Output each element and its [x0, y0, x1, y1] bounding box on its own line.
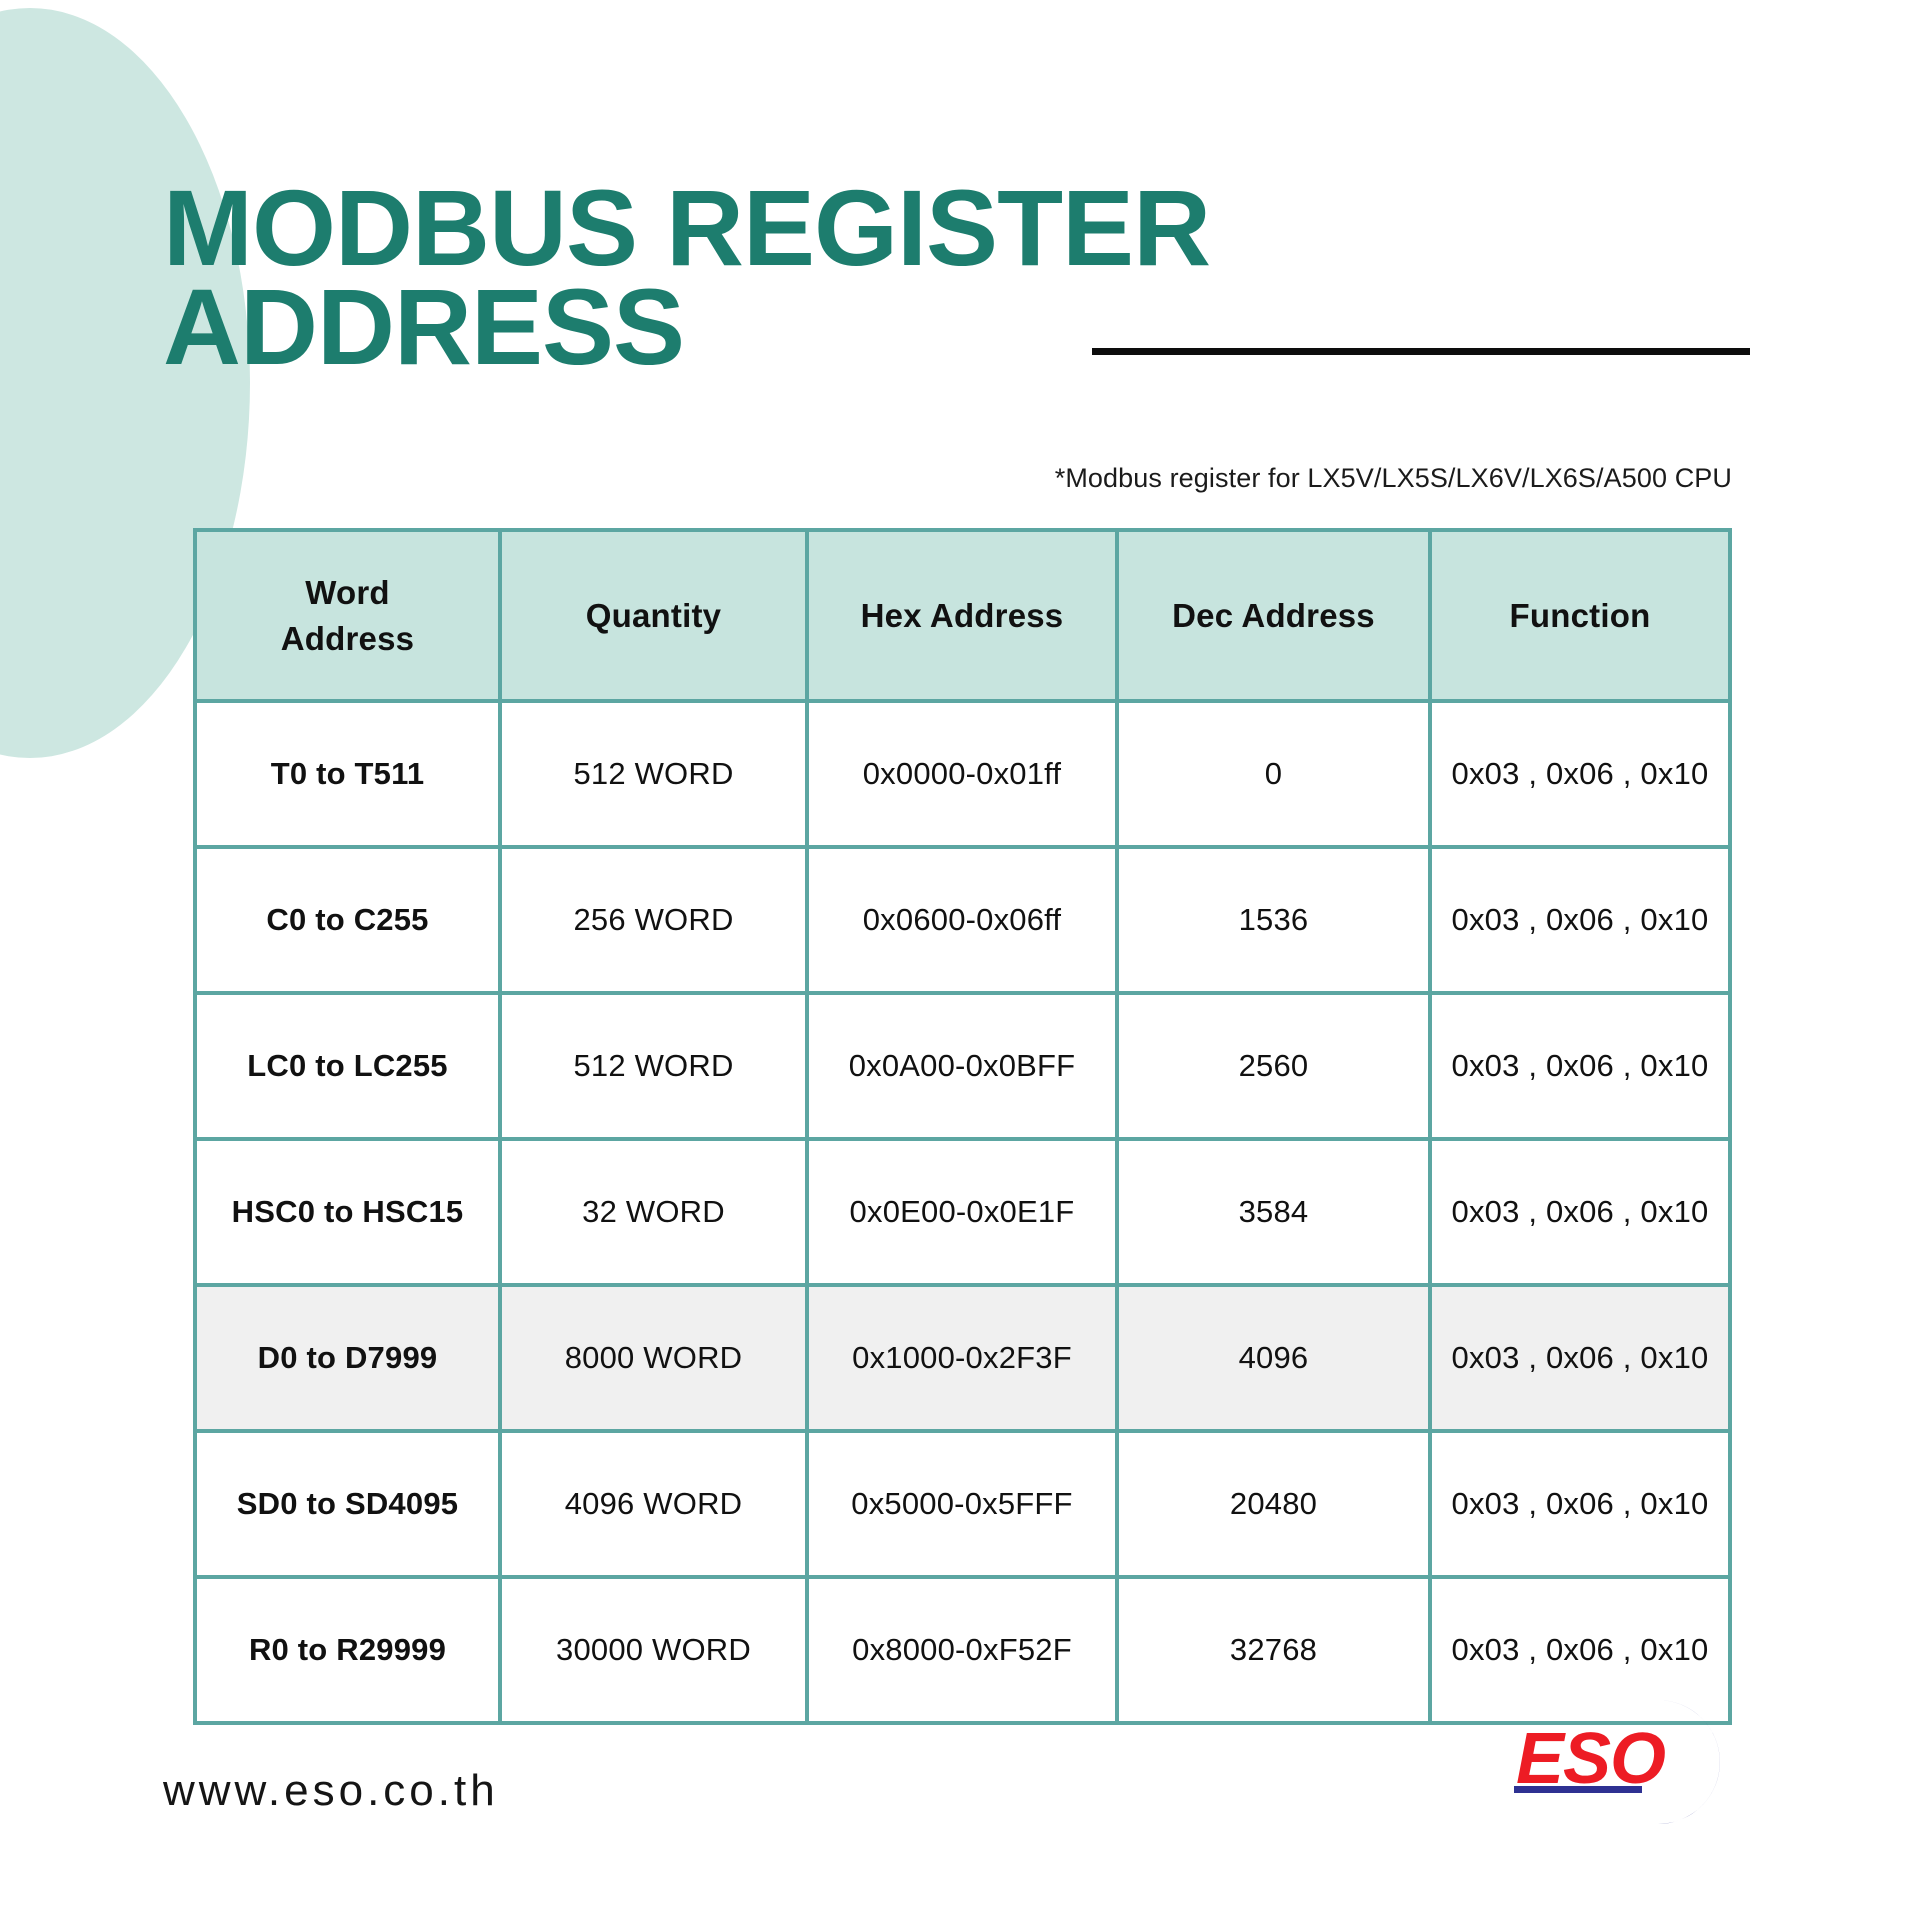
table-header-row: Word Address Quantity Hex Address Dec Ad… — [195, 530, 1730, 701]
cell-word-address: C0 to C255 — [195, 847, 500, 993]
cell-quantity: 512 WORD — [500, 701, 807, 847]
website-url: www.eso.co.th — [163, 1766, 499, 1816]
cell-hex-address: 0x5000-0x5FFF — [807, 1431, 1117, 1577]
cell-function: 0x03 , 0x06 , 0x10 — [1430, 1431, 1730, 1577]
table-row: C0 to C255 256 WORD 0x0600-0x06ff 1536 0… — [195, 847, 1730, 993]
cell-word-address: R0 to R29999 — [195, 1577, 500, 1723]
cell-dec-address: 4096 — [1117, 1285, 1430, 1431]
cell-dec-address: 0 — [1117, 701, 1430, 847]
modbus-register-table: Word Address Quantity Hex Address Dec Ad… — [193, 528, 1732, 1725]
subtitle-note: *Modbus register for LX5V/LX5S/LX6V/LX6S… — [1022, 463, 1732, 494]
poster-page: MODBUS REGISTER ADDRESS *Modbus register… — [0, 0, 1920, 1920]
title-block: MODBUS REGISTER ADDRESS — [163, 178, 1483, 377]
cell-function: 0x03 , 0x06 , 0x10 — [1430, 993, 1730, 1139]
cell-word-address: LC0 to LC255 — [195, 993, 500, 1139]
cell-word-address: SD0 to SD4095 — [195, 1431, 500, 1577]
cell-quantity: 512 WORD — [500, 993, 807, 1139]
column-header-word-address: Word Address — [195, 530, 500, 701]
cell-hex-address: 0x0000-0x01ff — [807, 701, 1117, 847]
table-row: LC0 to LC255 512 WORD 0x0A00-0x0BFF 2560… — [195, 993, 1730, 1139]
cell-quantity: 8000 WORD — [500, 1285, 807, 1431]
table-header: Word Address Quantity Hex Address Dec Ad… — [195, 530, 1730, 701]
eso-logo: ESO — [1508, 1690, 1758, 1835]
logo-outer-arc — [1658, 1700, 1720, 1824]
cell-dec-address: 3584 — [1117, 1139, 1430, 1285]
column-header-function: Function — [1430, 530, 1730, 701]
cell-quantity: 256 WORD — [500, 847, 807, 993]
cell-dec-address: 2560 — [1117, 993, 1430, 1139]
cell-word-address: T0 to T511 — [195, 701, 500, 847]
cell-dec-address: 20480 — [1117, 1431, 1430, 1577]
cell-quantity: 30000 WORD — [500, 1577, 807, 1723]
cell-dec-address: 1536 — [1117, 847, 1430, 993]
cell-function: 0x03 , 0x06 , 0x10 — [1430, 1139, 1730, 1285]
cell-quantity: 4096 WORD — [500, 1431, 807, 1577]
table-row: SD0 to SD4095 4096 WORD 0x5000-0x5FFF 20… — [195, 1431, 1730, 1577]
logo-wordmark: ESO — [1516, 1719, 1665, 1799]
cell-hex-address: 0x1000-0x2F3F — [807, 1285, 1117, 1431]
column-header-dec-address: Dec Address — [1117, 530, 1430, 701]
cell-hex-address: 0x0600-0x06ff — [807, 847, 1117, 993]
column-header-hex-address: Hex Address — [807, 530, 1117, 701]
table-row: HSC0 to HSC15 32 WORD 0x0E00-0x0E1F 3584… — [195, 1139, 1730, 1285]
cell-quantity: 32 WORD — [500, 1139, 807, 1285]
table-body: T0 to T511 512 WORD 0x0000-0x01ff 0 0x03… — [195, 701, 1730, 1723]
eso-logo-mark: ESO — [1508, 1690, 1758, 1835]
cell-hex-address: 0x0E00-0x0E1F — [807, 1139, 1117, 1285]
cell-word-address: HSC0 to HSC15 — [195, 1139, 500, 1285]
page-title: MODBUS REGISTER ADDRESS — [163, 178, 1483, 377]
cell-function: 0x03 , 0x06 , 0x10 — [1430, 701, 1730, 847]
column-header-quantity: Quantity — [500, 530, 807, 701]
table-row: T0 to T511 512 WORD 0x0000-0x01ff 0 0x03… — [195, 701, 1730, 847]
cell-dec-address: 32768 — [1117, 1577, 1430, 1723]
cell-function: 0x03 , 0x06 , 0x10 — [1430, 847, 1730, 993]
title-divider-rule — [1092, 348, 1750, 355]
cell-hex-address: 0x8000-0xF52F — [807, 1577, 1117, 1723]
cell-function: 0x03 , 0x06 , 0x10 — [1430, 1285, 1730, 1431]
table-row-highlighted: D0 to D7999 8000 WORD 0x1000-0x2F3F 4096… — [195, 1285, 1730, 1431]
cell-hex-address: 0x0A00-0x0BFF — [807, 993, 1117, 1139]
register-table-wrapper: Word Address Quantity Hex Address Dec Ad… — [193, 528, 1728, 1725]
cell-word-address: D0 to D7999 — [195, 1285, 500, 1431]
table-row: R0 to R29999 30000 WORD 0x8000-0xF52F 32… — [195, 1577, 1730, 1723]
